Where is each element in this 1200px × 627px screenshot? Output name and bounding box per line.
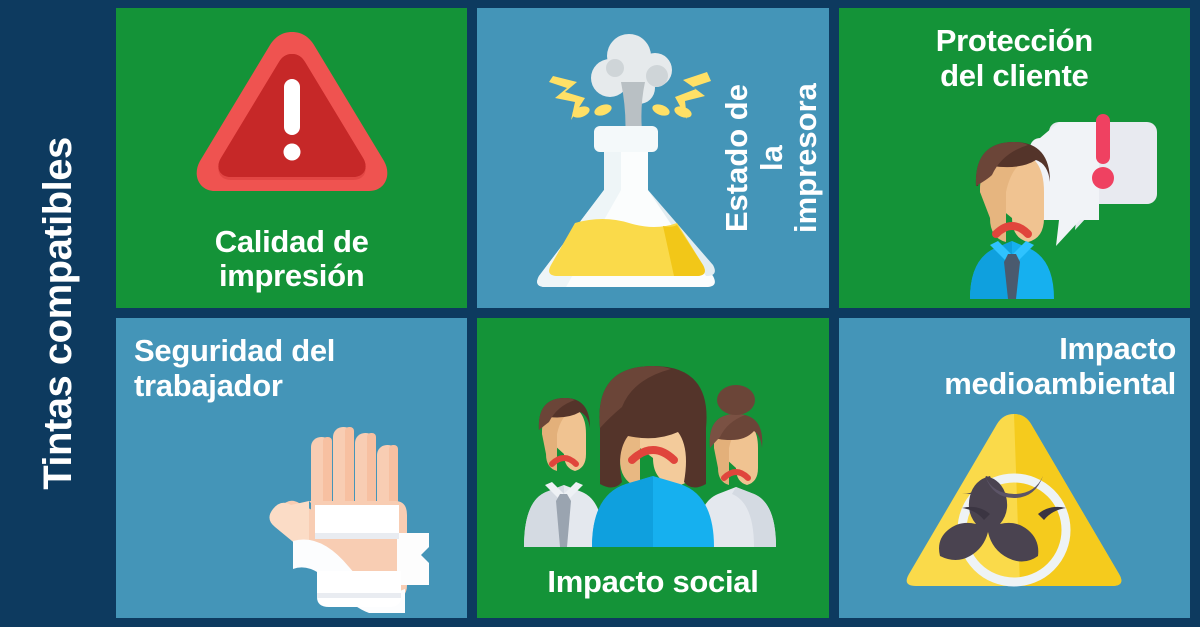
card-label-proteccion-del-cliente: Protección del cliente [839, 24, 1190, 93]
card-label-impacto-medioambiental: Impacto medioambiental [944, 332, 1176, 401]
biohazard-triangle-icon [899, 408, 1129, 608]
card-proteccion-del-cliente[interactable]: Protección del cliente [839, 8, 1190, 308]
unhappy-customer-icon [956, 114, 1166, 304]
feature-grid: Calidad de impresión [116, 8, 1190, 618]
card-calidad-de-impresion[interactable]: Calidad de impresión [116, 8, 467, 308]
card-label-seguridad-del-trabajador: Seguridad del trabajador [134, 334, 335, 403]
card-estado-de-la-impresora[interactable]: Estado de la impresora [477, 8, 828, 308]
card-label-calidad-de-impresion: Calidad de impresión [116, 225, 467, 294]
card-seguridad-del-trabajador[interactable]: Seguridad del trabajador [116, 318, 467, 618]
unhappy-family-icon [518, 342, 788, 552]
page-title: Tintas compatibles [0, 0, 116, 627]
infographic-root: Tintas compatibles Calidad de impresión [0, 0, 1200, 627]
warning-triangle-icon [192, 24, 392, 204]
card-impacto-medioambiental[interactable]: Impacto medioambiental [839, 318, 1190, 618]
smoking-flask-icon [511, 30, 741, 300]
card-label-impacto-social: Impacto social [477, 565, 828, 600]
bandaged-hand-icon [257, 423, 447, 618]
page-title-text: Tintas compatibles [36, 137, 81, 490]
card-label-estado-de-la-impresora: Estado de la impresora [717, 8, 827, 308]
card-impacto-social[interactable]: Impacto social [477, 318, 828, 618]
